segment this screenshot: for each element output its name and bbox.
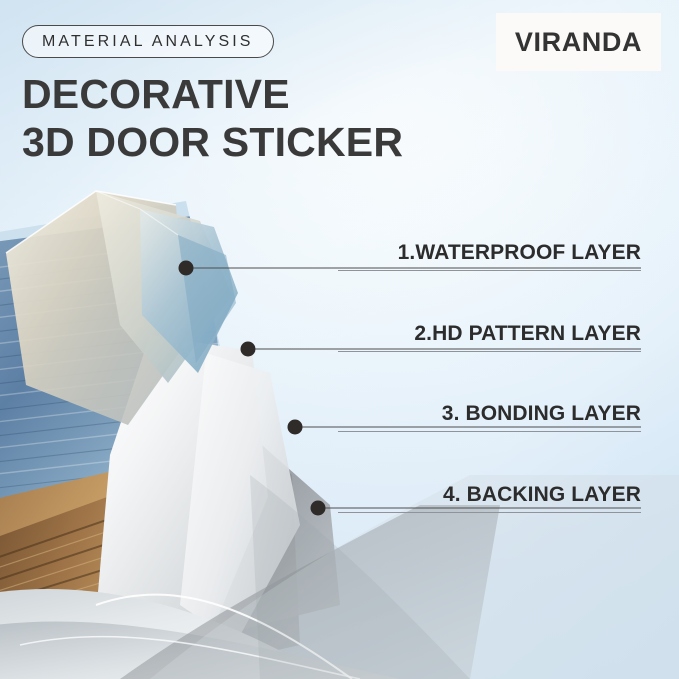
- callout-label-3: 3. BONDING LAYER: [338, 402, 641, 431]
- callout-backing-layer: 4. BACKING LAYER: [338, 483, 641, 513]
- callout-waterproof-layer: 1.WATERPROOF LAYER: [338, 241, 641, 271]
- callout-rule-2: [338, 351, 641, 352]
- callout-rule-1: [338, 270, 641, 271]
- callout-hd-pattern-layer: 2.HD PATTERN LAYER: [338, 322, 641, 352]
- callout-bonding-layer: 3. BONDING LAYER: [338, 402, 641, 432]
- callout-label-1: 1.WATERPROOF LAYER: [338, 241, 641, 270]
- callout-rule-4: [338, 512, 641, 513]
- callout-label-list: 1.WATERPROOF LAYER 2.HD PATTERN LAYER 3.…: [0, 0, 679, 679]
- callout-label-2: 2.HD PATTERN LAYER: [338, 322, 641, 351]
- poster-canvas: MATERIAL ANALYSIS VIRANDA DECORATIVE 3D …: [0, 0, 679, 679]
- callout-label-4: 4. BACKING LAYER: [338, 483, 641, 512]
- callout-rule-3: [338, 431, 641, 432]
